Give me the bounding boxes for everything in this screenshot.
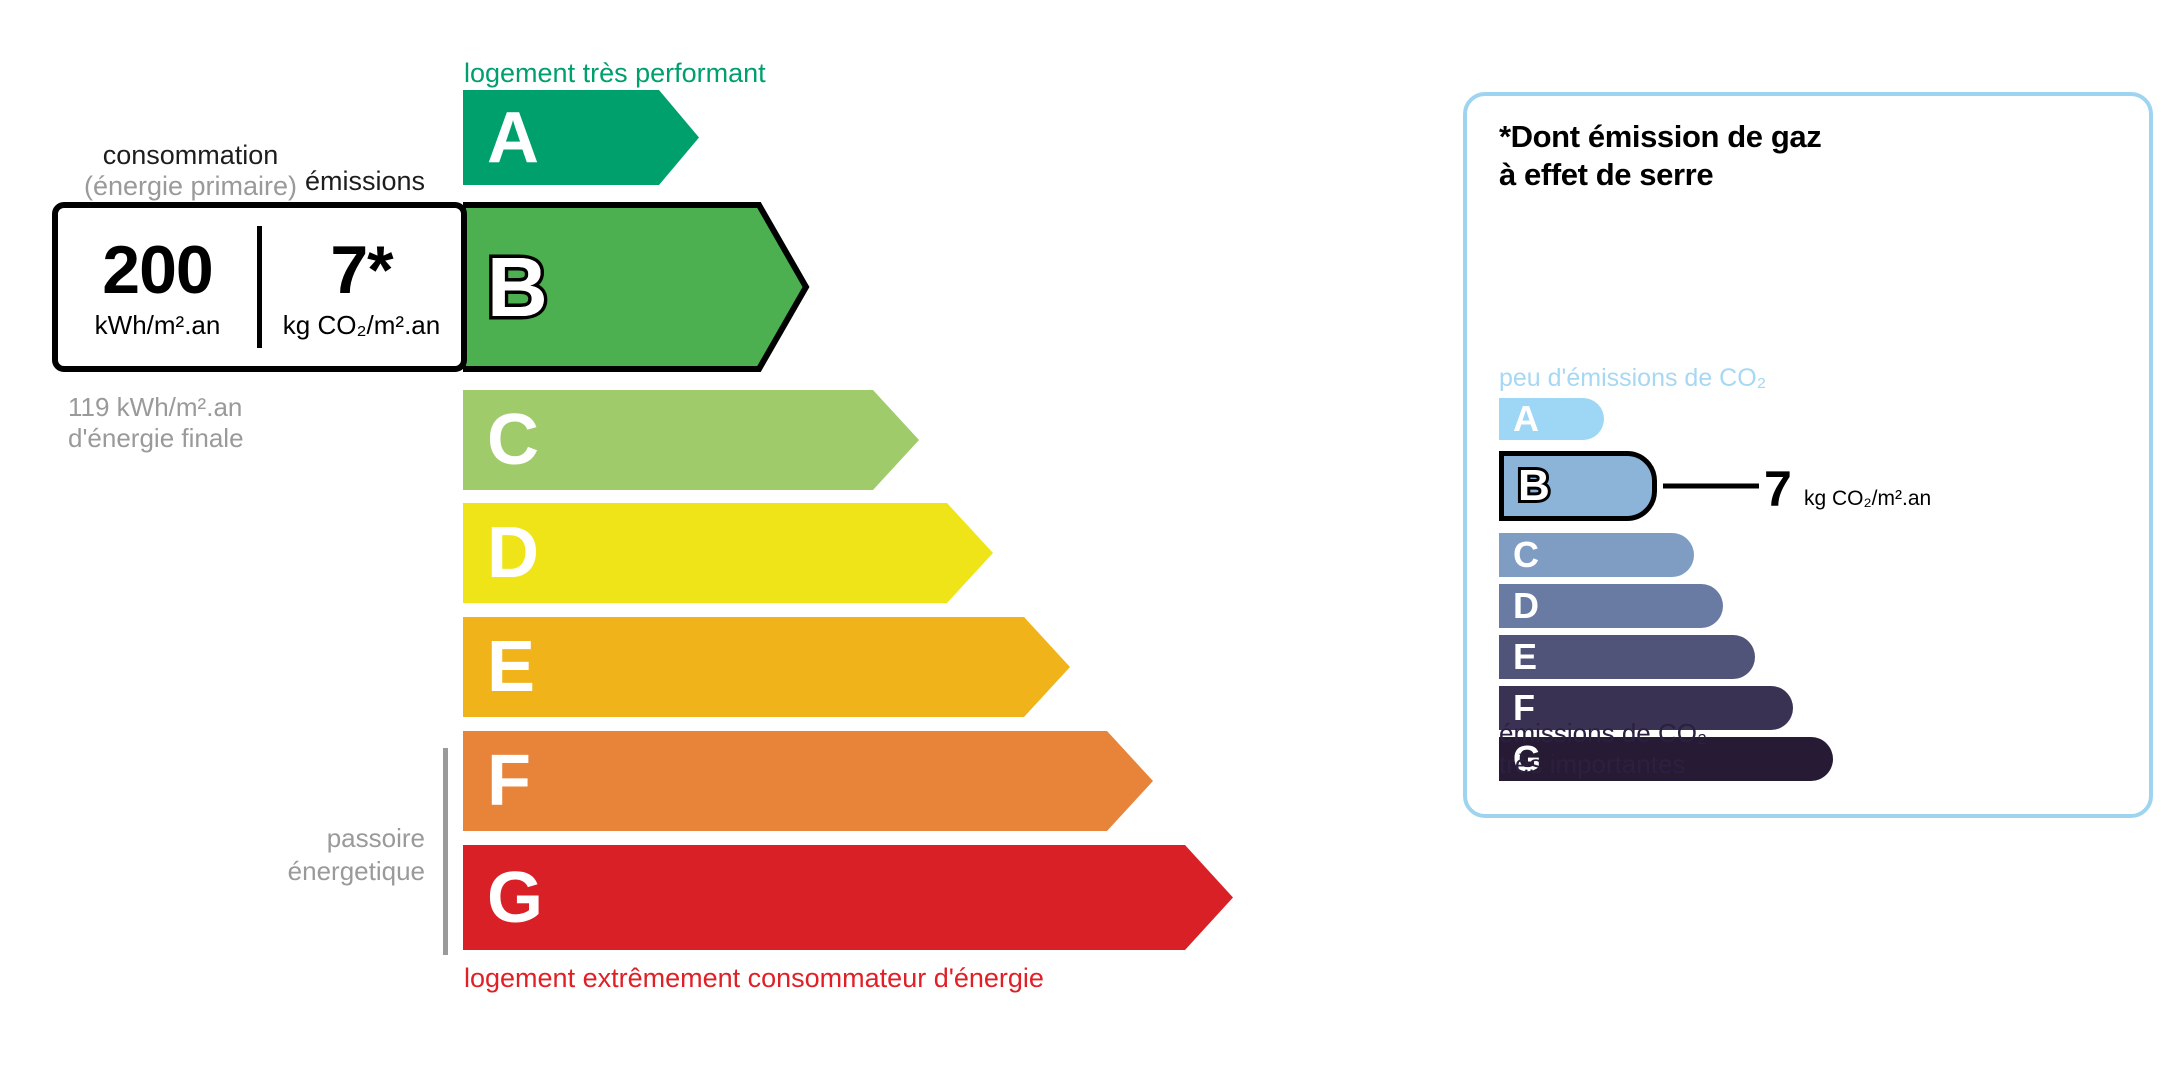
co2-bar-A[interactable]: A (1499, 398, 1604, 440)
co2-value-unit: kg CO₂/m².an (1804, 488, 1931, 509)
value-box: 200 kWh/m².an 7* kg CO₂/m².an (52, 202, 467, 372)
emission-value: 7* (330, 236, 392, 304)
co2-panel-title-line1: *Dont émission de gaz (1499, 118, 1821, 156)
co2-emissions-panel: *Dont émission de gaz à effet de serre p… (1463, 92, 2153, 818)
energy-bar-F[interactable]: F (463, 731, 1153, 831)
consumption-cell: 200 kWh/m².an (58, 208, 257, 366)
co2-bar-C-letter: C (1513, 537, 1539, 573)
energy-bar-G-shape (463, 845, 1233, 950)
energy-bar-E-letter: E (487, 631, 535, 703)
final-energy-note: 119 kWh/m².an d'énergie finale (68, 392, 244, 454)
passoire-label-line2: énergetique (235, 855, 425, 888)
energy-bar-G-letter: G (487, 862, 543, 934)
emission-cell: 7* kg CO₂/m².an (262, 208, 461, 366)
co2-panel-title-line2: à effet de serre (1499, 156, 1821, 194)
final-energy-line1: 119 kWh/m².an (68, 392, 244, 423)
energy-bar-A-letter: A (487, 102, 539, 174)
emission-unit: kg CO₂/m².an (283, 312, 440, 338)
co2-caption-high-line2: très importantes (1499, 749, 1707, 780)
co2-bar-B-letter: B (1518, 464, 1550, 508)
co2-caption-high: émissions de CO₂ très importantes (1499, 718, 1707, 780)
final-energy-line2: d'énergie finale (68, 423, 244, 454)
energy-bar-D-shape (463, 503, 993, 603)
energy-performance-diagram: consommation (énergie primaire) émission… (0, 0, 1380, 1079)
co2-bar-A-letter: A (1513, 401, 1539, 437)
energy-bar-E-shape (463, 617, 1070, 717)
energy-bar-D[interactable]: D (463, 503, 993, 603)
energy-bar-B[interactable]: B B (463, 202, 811, 372)
consumption-header-line1: consommation (68, 140, 313, 171)
energy-bar-G[interactable]: G (463, 845, 1233, 950)
energy-bar-B-letter-fill: B (487, 245, 548, 329)
passoire-label: passoire énergetique (235, 822, 425, 887)
consumption-header: consommation (énergie primaire) (68, 140, 313, 202)
co2-bar-D-letter: D (1513, 588, 1539, 624)
energy-bar-D-letter: D (487, 517, 539, 589)
passoire-label-line1: passoire (235, 822, 425, 855)
energy-bar-E[interactable]: E (463, 617, 1070, 717)
energy-bar-A[interactable]: A (463, 90, 699, 185)
co2-bar-E-letter: E (1513, 639, 1537, 675)
energy-bar-C[interactable]: C (463, 390, 919, 490)
co2-panel-title: *Dont émission de gaz à effet de serre (1499, 118, 1821, 194)
co2-connector-line (1663, 484, 1759, 489)
co2-value: 7 (1764, 464, 1792, 514)
co2-bar-D[interactable]: D (1499, 584, 1723, 628)
co2-bar-E[interactable]: E (1499, 635, 1755, 679)
caption-very-efficient: logement très performant (464, 58, 766, 89)
emissions-header: émissions (305, 166, 425, 197)
energy-bar-F-letter: F (487, 745, 531, 817)
passoire-bracket (443, 748, 448, 955)
co2-caption-low: peu d'émissions de CO₂ (1499, 364, 1766, 393)
energy-bar-F-shape (463, 731, 1153, 831)
co2-bar-C[interactable]: C (1499, 533, 1694, 577)
co2-bar-B[interactable]: B (1499, 451, 1657, 521)
consumption-value: 200 (102, 236, 212, 304)
consumption-unit: kWh/m².an (95, 312, 221, 338)
consumption-header-line2: (énergie primaire) (68, 171, 313, 202)
caption-very-consuming: logement extrêmement consommateur d'éner… (464, 963, 1044, 994)
energy-bar-C-letter: C (487, 404, 539, 476)
co2-caption-high-line1: émissions de CO₂ (1499, 718, 1707, 749)
